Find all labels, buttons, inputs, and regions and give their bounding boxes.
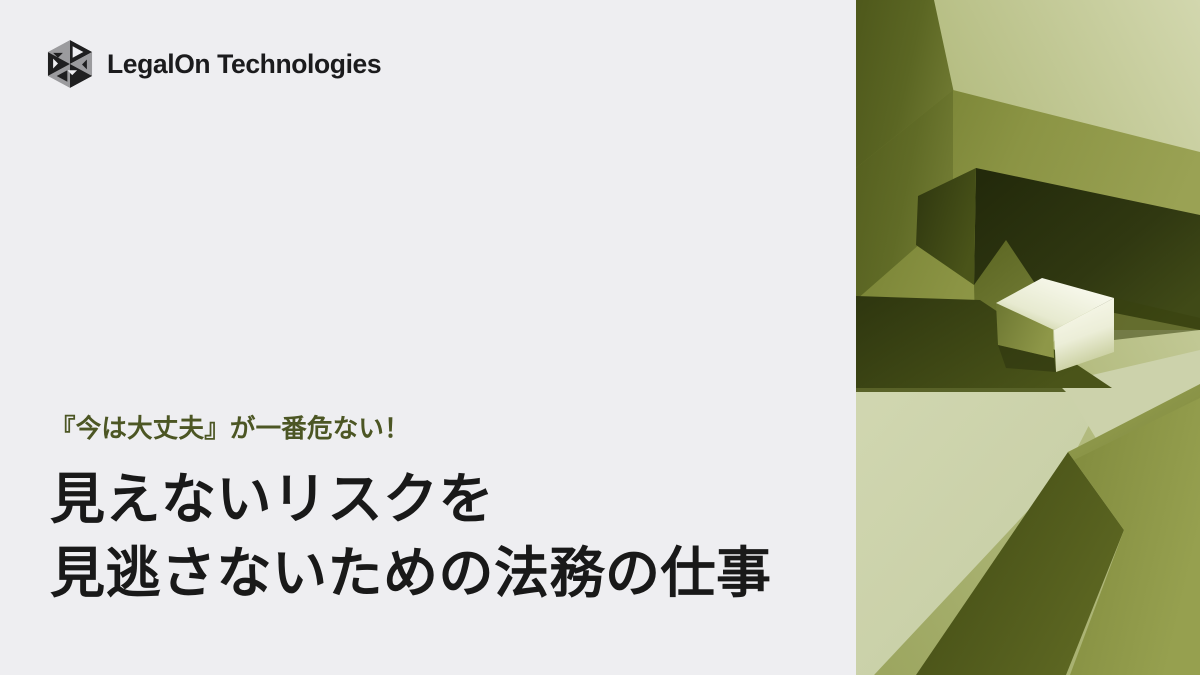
presentation-slide: LegalOn Technologies 『今は大丈夫』が一番危ない！ 見えない… [0,0,1200,675]
legalon-hexagon-logo-icon [47,40,93,88]
headline-line-1: 見えないリスクを [50,463,840,537]
left-content-panel: LegalOn Technologies 『今は大丈夫』が一番危ない！ 見えない… [0,0,856,675]
headline-line-2: 見逃さないための法務の仕事 [50,537,840,611]
brand-name-text: LegalOn Technologies [107,51,381,78]
brand-lockup: LegalOn Technologies [47,40,381,88]
headline-block: 『今は大丈夫』が一番危ない！ 見えないリスクを 見逃さないための法務の仕事 [50,414,840,610]
eyebrow-text: 『今は大丈夫』が一番危ない！ [50,414,840,446]
abstract-3d-cube-and-pit-illustration [856,0,1200,675]
artwork-panel [856,0,1200,675]
